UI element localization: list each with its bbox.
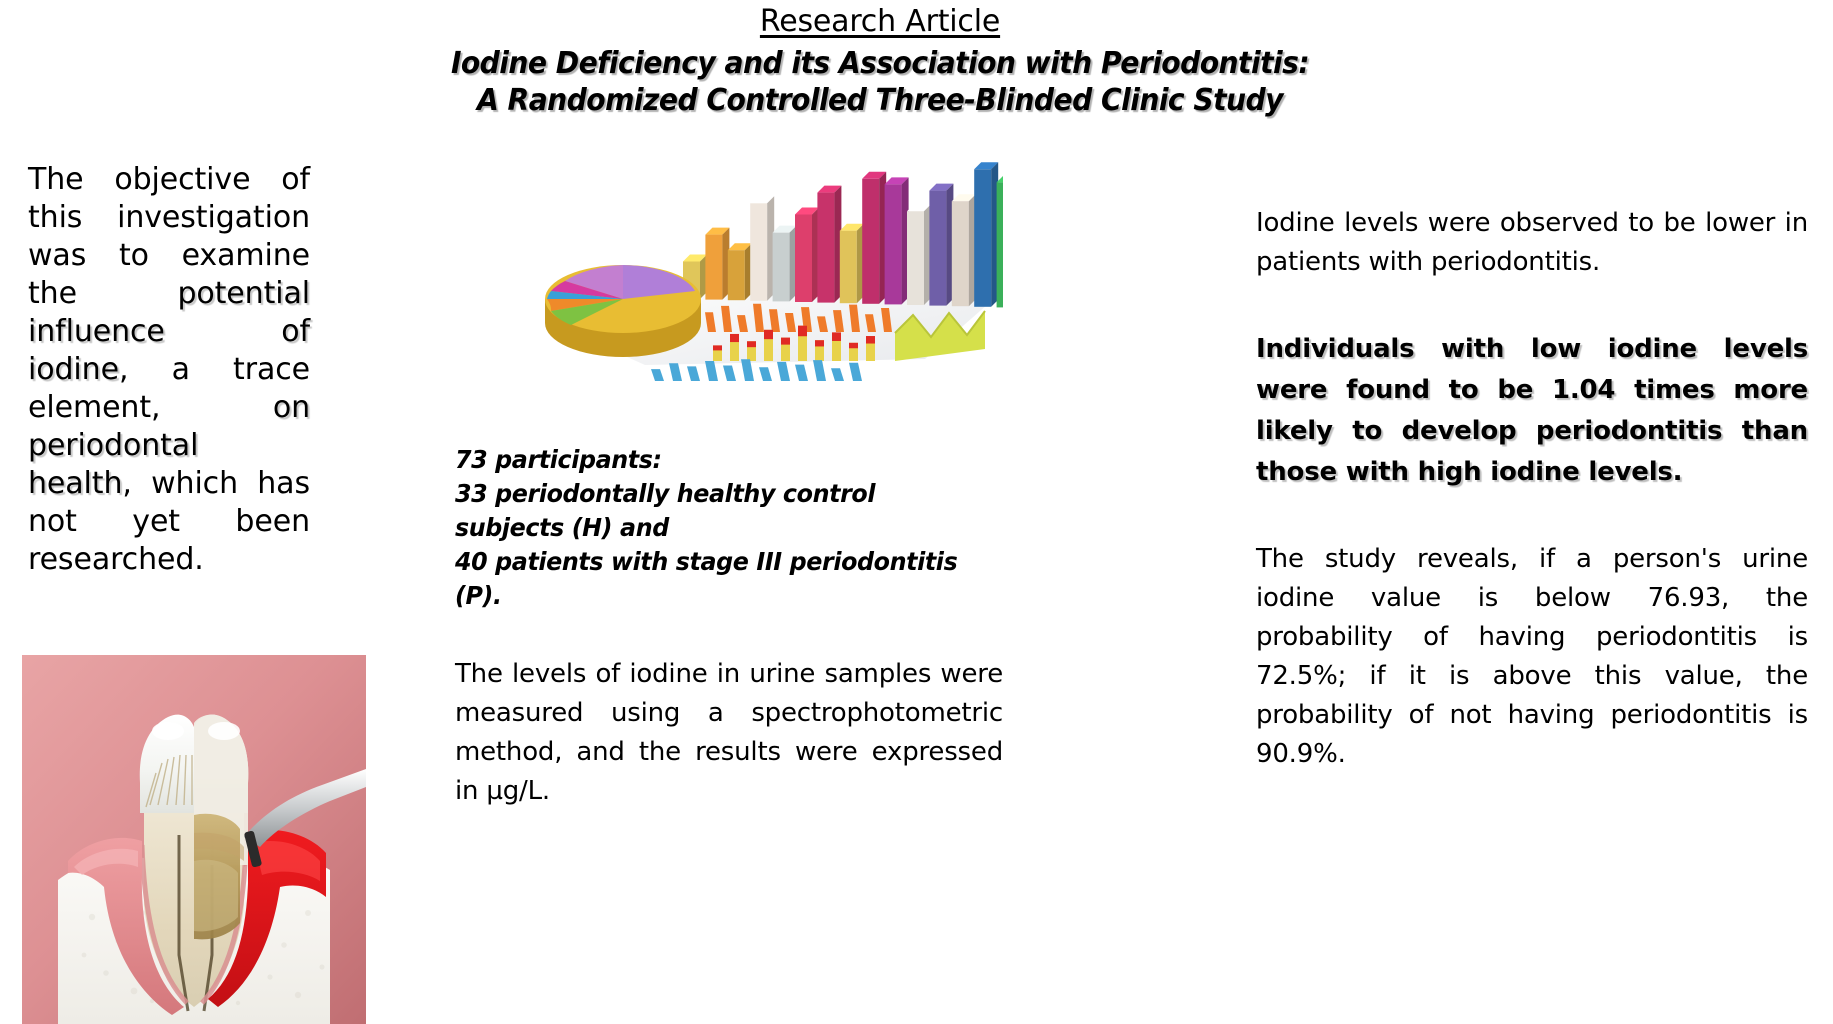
blue-bar <box>849 363 862 381</box>
bar-front <box>997 182 1003 307</box>
title-block: Research Article Iodine Deficiency and i… <box>380 2 1380 119</box>
stack-bar-red <box>849 343 858 348</box>
pie-chart-3d <box>545 265 701 357</box>
stack-bar-red <box>866 336 875 343</box>
observation-paragraph: Iodine levels were observed to be lower … <box>1256 204 1808 282</box>
blue-bar <box>777 362 790 381</box>
bar-front <box>773 233 790 302</box>
stack-bar-red <box>832 332 841 341</box>
stack-bar-red <box>764 330 773 339</box>
stack-bar-red <box>798 326 807 337</box>
participants-patients: 40 patients with stage III periodontitis… <box>455 545 976 613</box>
participants-total: 73 participants: <box>455 443 976 477</box>
bar-front <box>862 179 879 304</box>
blue-bar <box>651 369 664 381</box>
bar-front <box>952 201 969 306</box>
bar-front <box>817 193 834 303</box>
probability-paragraph: The study reveals, if a person's urine i… <box>1256 540 1808 774</box>
blue-bar <box>759 367 772 381</box>
participants-block: 73 participants: 33 periodontally health… <box>455 443 976 613</box>
key-finding-paragraph: Individuals with low iodine levels were … <box>1256 329 1808 493</box>
chart-illustration-svg <box>455 133 1003 381</box>
stack-bar-red <box>815 340 824 346</box>
article-type-label: Research Article <box>380 2 1380 42</box>
bar-front <box>705 235 722 300</box>
bar-front <box>974 169 991 306</box>
blue-bar <box>813 360 826 381</box>
page-title: Iodine Deficiency and its Association wi… <box>410 45 1350 119</box>
tooth-illustration-svg <box>22 655 366 1024</box>
blue-bar <box>705 361 718 381</box>
bar-front <box>795 215 812 303</box>
bar-series-3d <box>683 162 1003 308</box>
page-title-line-2: A Randomized Controlled Three-Blinded Cl… <box>410 82 1350 119</box>
bar-front <box>929 191 946 306</box>
calculus-highlight <box>194 860 238 932</box>
enamel-highlight-right <box>208 722 240 740</box>
statistics-chart-image <box>455 133 1003 381</box>
stack-bar-red <box>781 338 790 345</box>
blue-bar <box>687 366 700 381</box>
bar-front <box>840 231 857 304</box>
bar-front <box>750 203 767 300</box>
stack-bar-red <box>747 341 756 347</box>
methods-paragraph: The levels of iodine in urine samples we… <box>455 655 1003 811</box>
bar-front <box>885 184 902 304</box>
blue-bar <box>831 368 844 381</box>
periodontitis-tooth-image <box>22 655 366 1024</box>
objective-column: The objective of this investigation was … <box>28 131 310 609</box>
results-column: Iodine levels were observed to be lower … <box>1256 178 1808 800</box>
blue-bar <box>795 365 808 381</box>
enamel-highlight-left <box>152 722 184 740</box>
blue-bar <box>669 363 682 381</box>
participants-healthy: 33 periodontally healthy control subject… <box>455 477 976 545</box>
stack-bar-red <box>730 334 739 342</box>
participants-column: 73 participants: 33 periodontally health… <box>455 443 1003 837</box>
stack-bar-red <box>713 345 722 350</box>
bar-front <box>728 250 745 300</box>
bar-front <box>907 211 924 305</box>
page-title-line-1: Iodine Deficiency and its Association wi… <box>410 45 1350 82</box>
objective-paragraph: The objective of this investigation was … <box>28 161 310 579</box>
blue-bar <box>723 366 736 382</box>
